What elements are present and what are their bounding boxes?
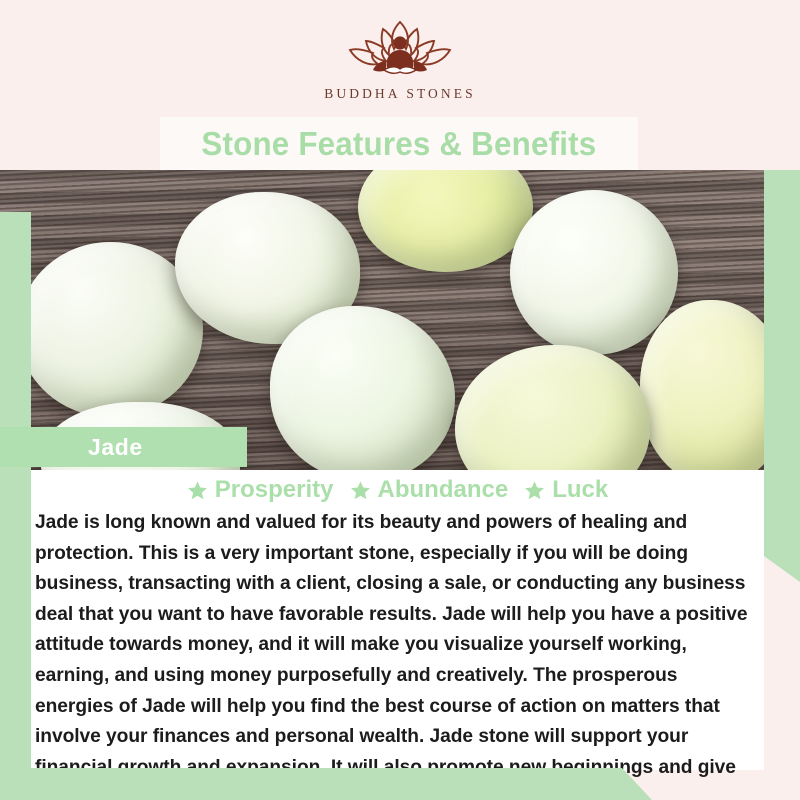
title-banner: Stone Features & Benefits	[160, 117, 638, 170]
page-title: Stone Features & Benefits	[202, 125, 597, 163]
benefit-item: Luck	[524, 476, 608, 504]
brand-header: BUDDHA STONES	[0, 0, 800, 118]
accent-band-right	[764, 170, 800, 582]
benefit-label: Luck	[552, 476, 608, 504]
benefit-label: Abundance	[378, 476, 509, 504]
accent-band-left-lower	[0, 428, 31, 768]
stone-name-chip: Jade	[0, 427, 247, 467]
lotus-meditation-icon	[320, 16, 480, 80]
brand-name: BUDDHA STONES	[324, 86, 475, 102]
content-panel: Prosperity Abundance Luck Jade is long k…	[31, 470, 764, 770]
star-icon	[524, 480, 545, 501]
hero-photo	[0, 170, 800, 470]
accent-band-left-top	[0, 212, 31, 428]
benefits-row: Prosperity Abundance Luck	[31, 470, 764, 506]
benefit-item: Prosperity	[187, 476, 334, 504]
star-icon	[187, 480, 208, 501]
stone-name-label: Jade	[88, 434, 143, 461]
infographic-page: BUDDHA STONES Stone Features & Benefits …	[0, 0, 800, 800]
benefit-label: Prosperity	[215, 476, 334, 504]
benefit-item: Abundance	[350, 476, 509, 504]
jade-stone	[510, 190, 678, 355]
star-icon	[350, 480, 371, 501]
stone-description: Jade is long known and valued for its be…	[31, 506, 764, 800]
